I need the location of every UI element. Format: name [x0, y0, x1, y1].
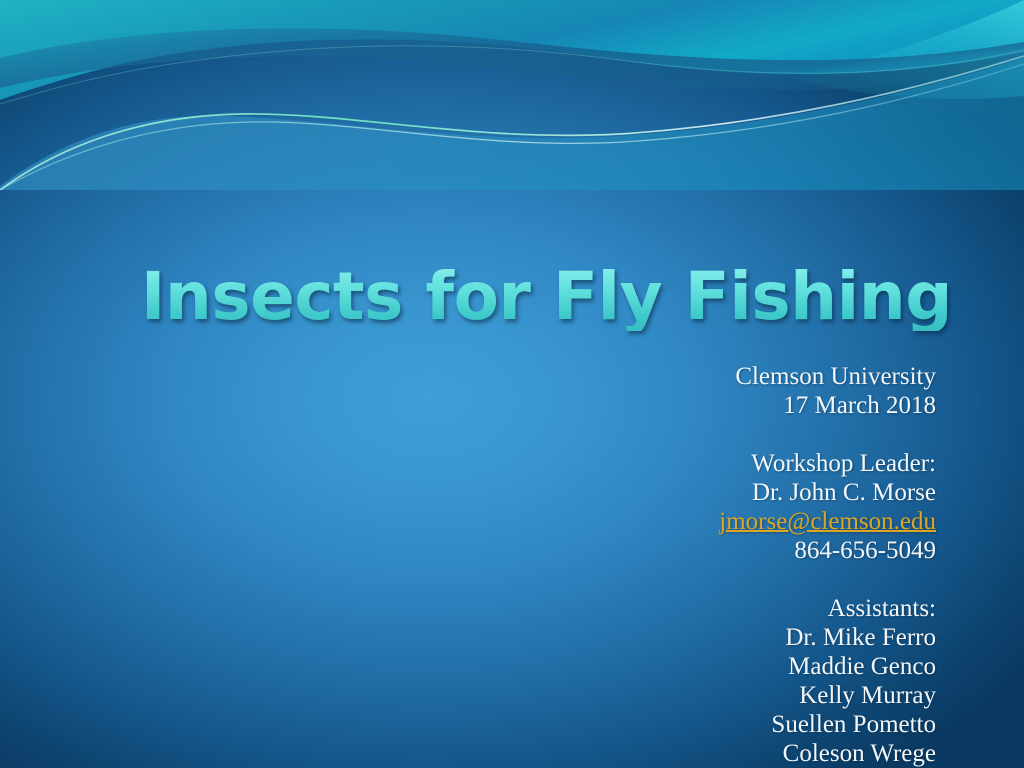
wave-highlight-line-2 — [0, 64, 1024, 190]
workshop-leader-email-line: jmorse@clemson.edu — [0, 507, 936, 536]
assistant-name: Kelly Murray — [0, 681, 936, 710]
wave-highlight-line-1 — [0, 56, 1024, 190]
wave-contour-line — [0, 46, 1024, 104]
organization-name: Clemson University — [0, 362, 936, 391]
assistant-name: Maddie Genco — [0, 652, 936, 681]
wave-svg — [0, 0, 1024, 190]
assistant-name: Dr. Mike Ferro — [0, 623, 936, 652]
wave-teal-top — [0, 0, 1024, 100]
subtitle-spacer-1 — [0, 420, 936, 449]
presentation-slide: Insects for Fly Fishing Clemson Universi… — [0, 0, 1024, 768]
email-link[interactable]: jmorse@clemson.edu — [719, 508, 936, 535]
workshop-leader-heading: Workshop Leader: — [0, 449, 936, 478]
event-date: 17 March 2018 — [0, 391, 936, 420]
wave-main-body — [0, 58, 1024, 190]
assistant-name: Suellen Pometto — [0, 710, 936, 739]
assistants-heading: Assistants: — [0, 594, 936, 623]
workshop-leader-name: Dr. John C. Morse — [0, 478, 936, 507]
decorative-wave-graphic — [0, 0, 1024, 190]
subtitle-spacer-2 — [0, 565, 936, 594]
wave-right-glow — [790, 0, 1024, 99]
wave-dark-band — [0, 28, 1024, 89]
workshop-leader-phone: 864-656-5049 — [0, 536, 936, 565]
page-title: Insects for Fly Fishing — [141, 262, 952, 331]
title-container: Insects for Fly Fishing — [0, 262, 952, 331]
assistants-list: Dr. Mike FerroMaddie GencoKelly MurraySu… — [0, 623, 936, 768]
assistant-name: Coleson Wrege — [0, 739, 936, 768]
subtitle-container: Clemson University 17 March 2018 Worksho… — [0, 362, 936, 768]
